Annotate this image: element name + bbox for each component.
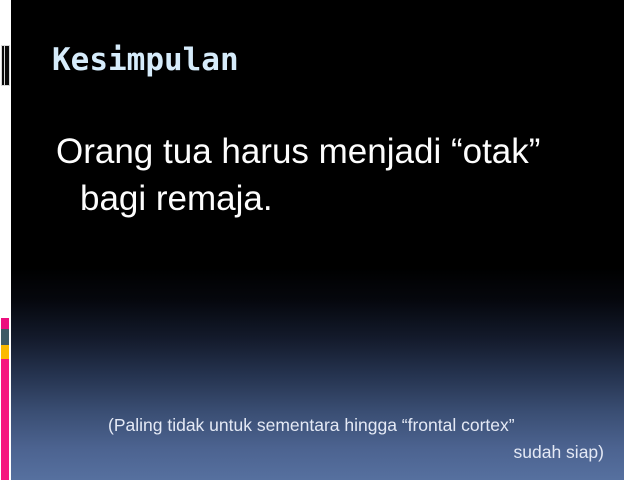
body-line-2: bagi remaja. [56,175,601,222]
accent-bar-pink-top [1,318,9,329]
footnote-line-1: (Paling tidak untuk sementara hingga “fr… [108,412,604,439]
accent-bar-teal [1,329,9,345]
grey-bars-decoration [1,45,10,86]
accent-bar-magenta [1,359,9,480]
body-line-1: Orang tua harus menjadi “otak” [56,132,540,171]
slide-footnote: (Paling tidak untuk sementara hingga “fr… [108,412,604,466]
slide-title: Kesimpulan [52,42,239,78]
slide-body: Orang tua harus menjadi “otak” bagi rema… [56,128,601,222]
footnote-line-2: sudah siap) [108,439,604,466]
left-gutter [0,0,11,480]
grey-bar-3 [7,46,9,85]
accent-bar-amber [1,345,9,359]
presentation-slide: Kesimpulan Orang tua harus menjadi “otak… [0,0,624,480]
